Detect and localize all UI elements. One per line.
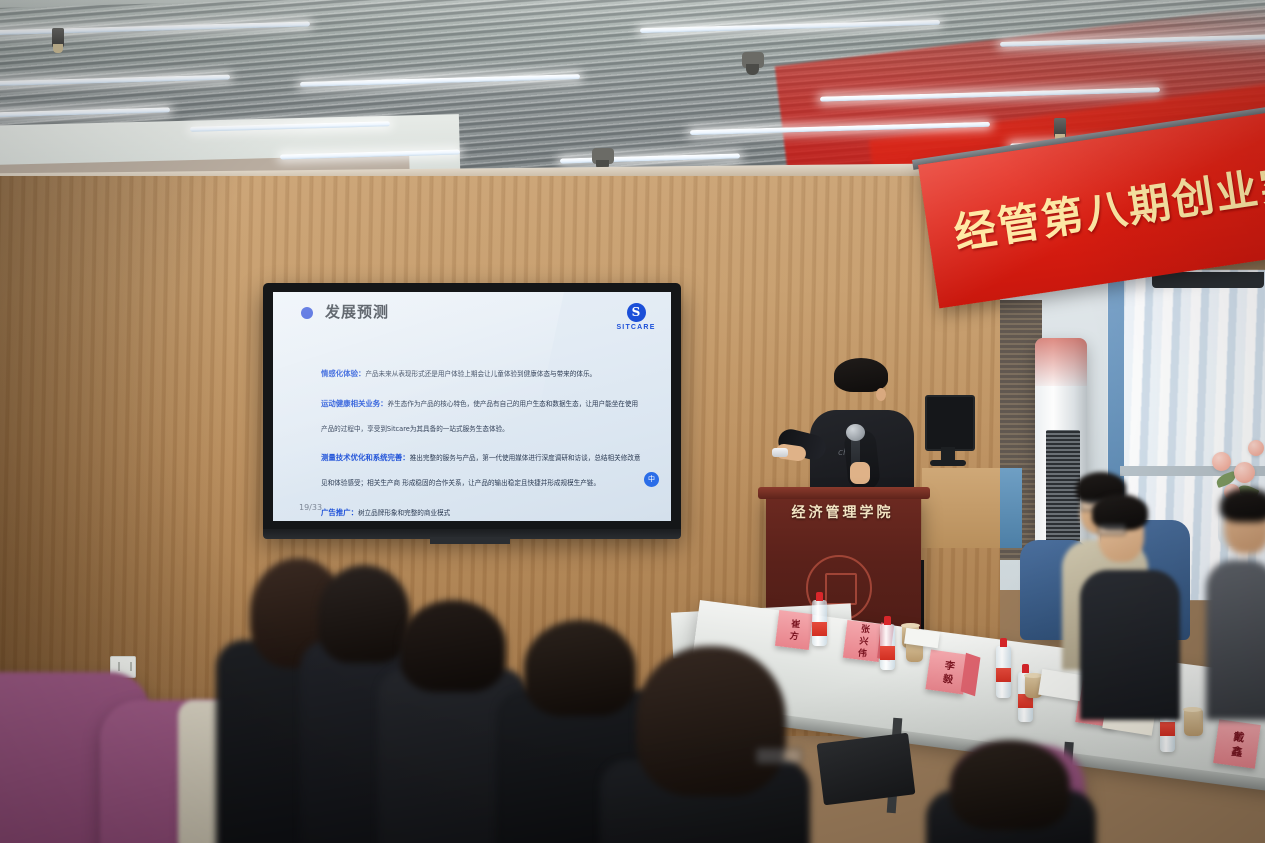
audience-hair: [318, 565, 410, 663]
laptop[interactable]: [817, 733, 916, 806]
slide-bullet: 运动健康相关业务：养生态作为产品的核心特色，使产品有自己的用户生态和数据生态，让…: [321, 390, 643, 440]
wall-shadow: [0, 176, 240, 736]
slide-logo-text: SITCARE: [615, 324, 657, 331]
slide-bullet-heading: 测量技术优化和系统完善：: [321, 453, 410, 462]
presenter-hair: [834, 358, 888, 392]
side-cabinet-panel: [1000, 468, 1022, 548]
slide-bullet-heading: 广告推广：: [321, 508, 358, 517]
slide-title-bullet-icon: [301, 307, 313, 319]
flower-icon: [1248, 440, 1264, 456]
sitcare-logo-icon: S: [627, 303, 646, 322]
display-stand: [430, 537, 510, 544]
monitor-stand: [941, 447, 955, 461]
air-conditioner-red-glow: [1035, 338, 1087, 386]
slide-page-number: 19/33: [299, 503, 322, 512]
podium-top: [758, 487, 930, 499]
audience-hair: [636, 646, 786, 796]
presentation-display[interactable]: 发展预测 S SITCARE 情感化体验：产品未来从表现形式还是用户体验上期会让…: [263, 283, 681, 535]
slide-body: 情感化体验：产品未来从表现形式还是用户体验上期会让儿童体验到健康体态与带来的体乐…: [321, 360, 643, 521]
slide-bullet-heading: 情感化体验：: [321, 369, 365, 378]
judge-torso: [1080, 570, 1180, 720]
bottle-label: [812, 622, 827, 636]
ceiling-sensor-icon: [592, 148, 614, 164]
slide-logo: S SITCARE: [615, 303, 657, 331]
name-placard-text: 戴 鑫: [1213, 719, 1261, 768]
water-bottle: [812, 600, 827, 646]
presenter-right-hand: [850, 462, 870, 484]
podium-sign-text: 经济管理学院: [775, 502, 910, 522]
name-placard: 崔 方: [775, 610, 813, 650]
monitor-base: [930, 460, 966, 466]
slide-bullet-text: 产品未来从表现形式还是用户体验上期会让儿童体验到健康体态与带来的体乐。: [365, 370, 596, 378]
audience-hair: [524, 620, 636, 716]
bottle-label: [1160, 722, 1175, 736]
presenter-ear: [876, 388, 886, 401]
curtain-rail: [1152, 272, 1264, 288]
name-placard: 戴 鑫: [1213, 719, 1261, 768]
eyeglasses-icon: [1098, 524, 1126, 535]
smoke-detector-icon: [52, 28, 64, 50]
microphone-icon: [846, 424, 865, 441]
paper-cup: [1184, 710, 1203, 736]
slide-bullet-heading: 运动健康相关业务：: [321, 399, 388, 408]
flower-icon: [1234, 462, 1255, 483]
projector-mount-icon: [742, 52, 764, 68]
bottle-label: [880, 646, 895, 660]
slide-bullet-text: 树立品牌形象和完整的商业模式: [358, 509, 450, 517]
desktop-monitor: [925, 395, 975, 451]
slide-screen: 发展预测 S SITCARE 情感化体验：产品未来从表现形式还是用户体验上期会让…: [273, 292, 671, 521]
water-bottle: [996, 646, 1011, 698]
judge-torso: [1206, 560, 1265, 720]
audience-hair: [950, 740, 1070, 830]
slide-bullet: 广告推广：树立品牌形象和完整的商业模式: [321, 499, 643, 521]
conference-room-scene: 经管第八期创业实践营 发展预测 S SITCARE 情感化体验：产品未来从表现形…: [0, 0, 1265, 843]
eyeglasses-icon: [756, 748, 802, 764]
bottle-label: [996, 668, 1011, 682]
slide-title: 发展预测: [325, 301, 389, 322]
flower-icon: [1212, 452, 1231, 471]
name-placard-text: 崔 方: [775, 610, 813, 650]
water-bottle: [880, 624, 895, 670]
slide-bullet: 情感化体验：产品未来从表现形式还是用户体验上期会让儿童体验到健康体态与带来的体乐…: [321, 360, 643, 385]
judge-hair: [1220, 488, 1265, 522]
slide-corner-badge[interactable]: 中: [644, 472, 659, 487]
slide-bullet: 测量技术优化和系统完善：推出完整的服务与产品，第一代使用媒体进行深度调研和访谈，…: [321, 444, 643, 494]
presenter-clicker-icon[interactable]: [772, 448, 788, 457]
audience-hair: [400, 600, 506, 692]
